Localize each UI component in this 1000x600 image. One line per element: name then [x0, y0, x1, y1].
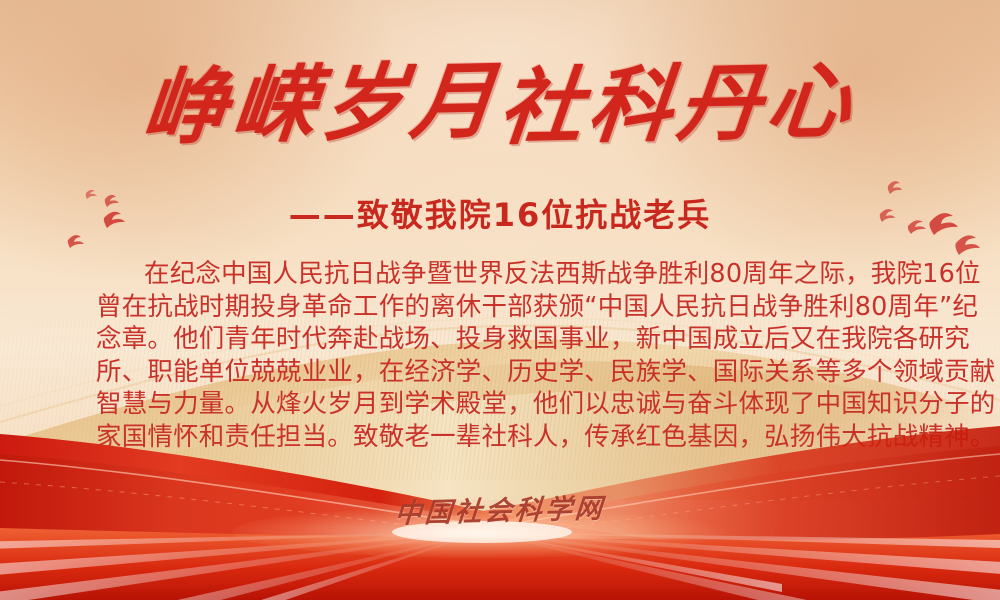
title-block: 峥嵘岁月社科丹心: [0, 62, 1000, 147]
poster-subtitle: ——致敬我院16位抗战老兵: [289, 190, 712, 236]
subtitle-block: ——致敬我院16位抗战老兵: [0, 190, 1000, 236]
watermark-text: 中国社会科学网: [393, 486, 606, 531]
poster-body-text: 在纪念中国人民抗日战争暨世界反法西斯战争胜利80周年之际，我院16位 曾在抗战时…: [96, 258, 908, 453]
body-line: 智慧与力量。从烽火岁月到学术殿堂，他们以忠诚与奋斗体现了中国知识分子的: [96, 388, 908, 421]
body-line: 在纪念中国人民抗日战争暨世界反法西斯战争胜利80周年之际，我院16位: [96, 258, 908, 291]
body-line: 所、职能单位兢兢业业，在经济学、历史学、民族学、国际关系等多个领域贡献: [96, 356, 908, 389]
site-watermark: 中国社会科学网: [0, 489, 1000, 528]
body-line: 曾在抗战时期投身革命工作的离休干部获颁“中国人民抗日战争胜利80周年”纪: [96, 291, 908, 324]
poster-banner: 峥嵘岁月社科丹心 ——致敬我院16位抗战老兵 在纪念中国人民抗日战争暨世界反法西…: [0, 0, 1000, 600]
body-line: 家国情怀和责任担当。致敬老一辈社科人，传承红色基因，弘扬伟大抗战精神。: [96, 421, 908, 454]
body-line: 念章。他们青年时代奔赴战场、投身救国事业，新中国成立后又在我院各研究: [96, 323, 908, 356]
poster-title-part1: 峥嵘岁月: [139, 58, 504, 150]
poster-title-part2: 社科丹心: [495, 58, 860, 150]
